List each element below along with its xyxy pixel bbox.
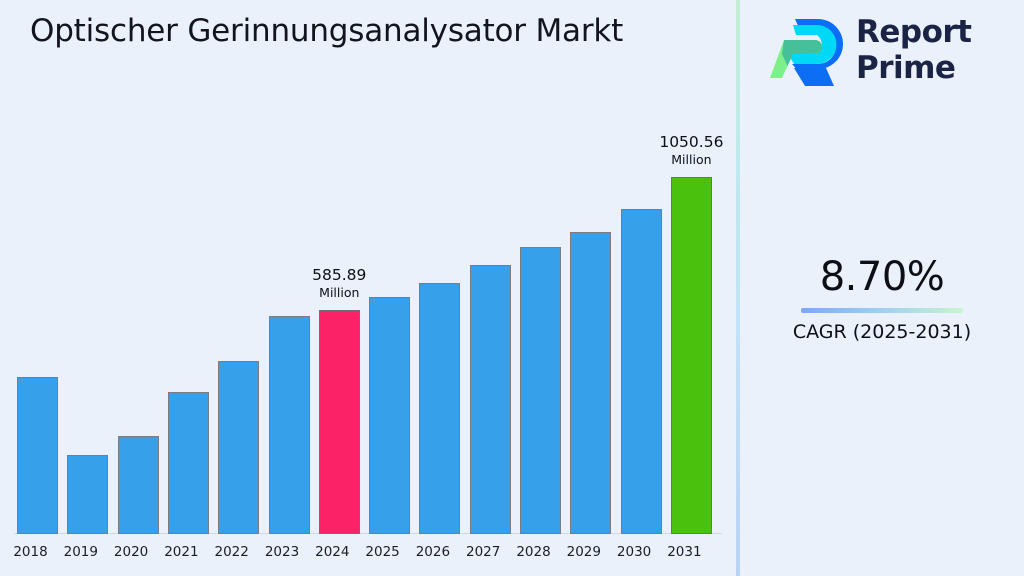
x-tick-label-2021: 2021 xyxy=(154,544,209,560)
bar-2018[interactable] xyxy=(17,377,58,534)
side-panel: Report Prime 8.70% CAGR (2025-2031) xyxy=(740,0,1024,576)
bar-2023[interactable] xyxy=(269,316,310,534)
bar-2026[interactable] xyxy=(419,283,460,534)
bar-2022[interactable] xyxy=(218,361,259,534)
bar-rect-2019 xyxy=(67,455,108,534)
cagr-label: CAGR (2025-2031) xyxy=(740,319,1024,345)
cagr-value: 8.70% xyxy=(740,252,1024,302)
x-tick-label-2028: 2028 xyxy=(506,544,561,560)
bar-rect-2028 xyxy=(520,247,561,534)
x-tick-label-2025: 2025 xyxy=(355,544,410,560)
bar-rect-2027 xyxy=(470,265,511,534)
bar-rect-2024 xyxy=(319,310,360,534)
report-prime-logo-text: Report Prime xyxy=(856,14,1008,86)
bar-value-callout-2024: 585.89Million xyxy=(274,266,404,301)
market-chart-infographic: Optischer Gerinnungsanalysator Markt 201… xyxy=(0,0,1024,576)
bar-rect-2021 xyxy=(168,392,209,534)
x-tick-label-2029: 2029 xyxy=(556,544,611,560)
bar-rect-2018 xyxy=(17,377,58,534)
bar-2021[interactable] xyxy=(168,392,209,534)
bar-2027[interactable] xyxy=(470,265,511,534)
x-tick-label-2027: 2027 xyxy=(456,544,511,560)
x-tick-label-2024: 2024 xyxy=(305,544,360,560)
x-tick-label-2031: 2031 xyxy=(657,544,712,560)
logo-line-2: Prime xyxy=(856,50,1008,86)
bar-2030[interactable] xyxy=(621,209,662,534)
x-tick-label-2019: 2019 xyxy=(53,544,108,560)
bar-rect-2030 xyxy=(621,209,662,534)
logo-line-1: Report xyxy=(856,14,1008,50)
bar-2029[interactable] xyxy=(570,232,611,534)
x-tick-label-2022: 2022 xyxy=(204,544,259,560)
x-tick-label-2018: 2018 xyxy=(3,544,58,560)
bar-2025[interactable] xyxy=(369,297,410,534)
bar-chart-plot: 2018201920202021202220232024202520262027… xyxy=(0,0,736,576)
cagr-block: 8.70% CAGR (2025-2031) xyxy=(740,252,1024,345)
cagr-divider-rule xyxy=(801,308,963,313)
bar-2028[interactable] xyxy=(520,247,561,534)
x-tick-label-2020: 2020 xyxy=(104,544,159,560)
bar-rect-2023 xyxy=(269,316,310,534)
x-tick-label-2030: 2030 xyxy=(607,544,662,560)
bar-rect-2029 xyxy=(570,232,611,534)
bar-2031[interactable] xyxy=(671,177,712,534)
bar-rect-2020 xyxy=(118,436,159,534)
chart-panel: Optischer Gerinnungsanalysator Markt 201… xyxy=(0,0,736,576)
bar-value-2024: 585.89 xyxy=(274,266,404,285)
x-tick-label-2023: 2023 xyxy=(255,544,310,560)
bar-rect-2026 xyxy=(419,283,460,534)
bar-rect-2025 xyxy=(369,297,410,534)
bar-2020[interactable] xyxy=(118,436,159,534)
bar-rect-2031 xyxy=(671,177,712,534)
bar-rect-2022 xyxy=(218,361,259,534)
x-tick-label-2026: 2026 xyxy=(405,544,460,560)
bar-2024[interactable] xyxy=(319,310,360,534)
bar-2019[interactable] xyxy=(67,455,108,534)
report-prime-logo-mark xyxy=(768,16,850,90)
report-prime-logo: Report Prime xyxy=(768,12,1008,96)
